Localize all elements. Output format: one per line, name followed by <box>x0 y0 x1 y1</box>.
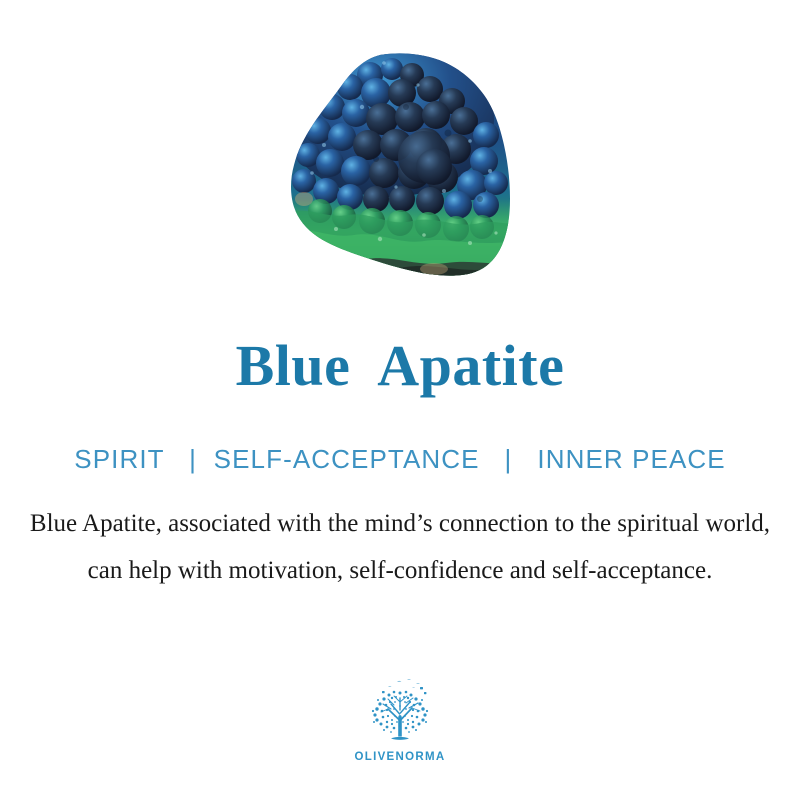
product-title: Blue Apatite <box>0 332 800 400</box>
product-keywords: SPIRIT | SELF-ACCEPTANCE | INNER PEACE <box>0 443 800 475</box>
brand-logo: OLIVENORMA <box>0 678 800 764</box>
brand-name-text: OLIVENORMA <box>355 750 446 764</box>
product-description: Blue Apatite, associated with the mind’s… <box>22 500 778 594</box>
tree-logo-icon <box>361 678 439 748</box>
specimen-image-container <box>0 40 800 290</box>
blue-apatite-specimen-image <box>284 49 516 281</box>
product-info-card: Blue Apatite SPIRIT | SELF-ACCEPTANCE | … <box>0 0 800 800</box>
